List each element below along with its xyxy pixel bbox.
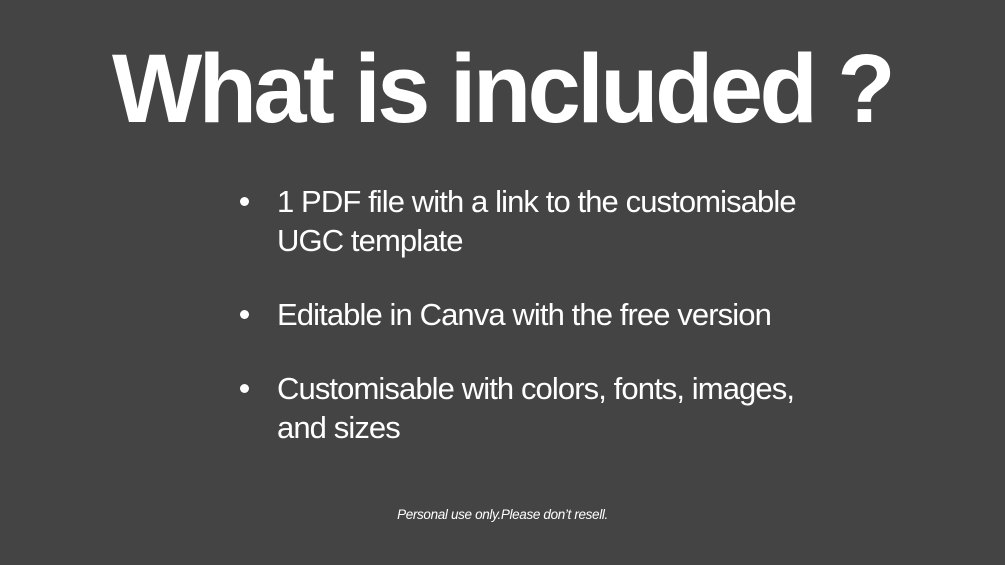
- bullet-dot-icon: [240, 384, 249, 393]
- bullet-dot-icon: [240, 310, 249, 319]
- usage-disclaimer: Personal use only.Please don’t resell.: [0, 506, 1005, 524]
- list-item-label: Customisable with colors, fonts, images,…: [277, 369, 848, 447]
- list-item: Customisable with colors, fonts, images,…: [228, 369, 848, 447]
- list-item: Editable in Canva with the free version: [228, 295, 848, 334]
- list-item-label: Editable in Canva with the free version: [277, 295, 848, 334]
- page-title: What is included ?: [112, 40, 892, 137]
- page-title-container: What is included ?: [0, 40, 1005, 137]
- slide-canvas: What is included ? 1 PDF file with a lin…: [0, 0, 1005, 565]
- bullet-dot-icon: [240, 197, 249, 206]
- list-item: 1 PDF file with a link to the customisab…: [228, 182, 848, 260]
- list-item-label: 1 PDF file with a link to the customisab…: [277, 182, 848, 260]
- included-items-list: 1 PDF file with a link to the customisab…: [228, 182, 848, 447]
